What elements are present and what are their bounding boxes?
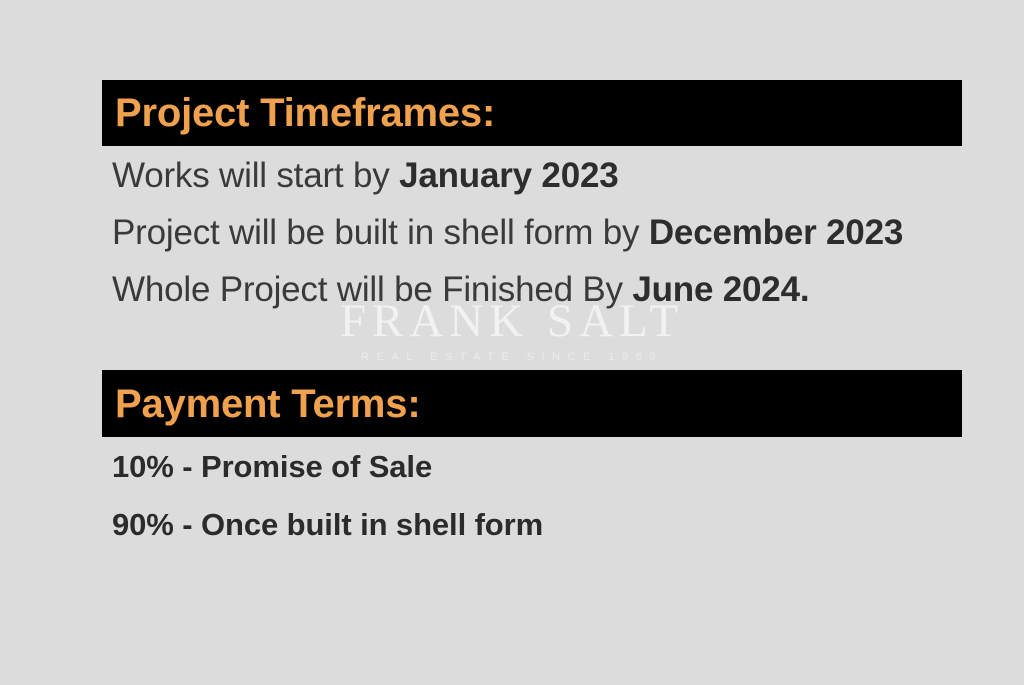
timeframe-row: Works will start by January 2023 <box>112 158 619 193</box>
payment-term-row: 90% - Once built in shell form <box>112 509 543 540</box>
section-title-timeframes: Project Timeframes: <box>102 93 495 133</box>
section-header-timeframes: Project Timeframes: <box>102 80 962 146</box>
timeframe-row: Project will be built in shell form by D… <box>112 215 903 250</box>
timeframe-label: Project will be built in shell form by <box>112 213 649 252</box>
payment-term-row: 10% - Promise of Sale <box>112 451 432 482</box>
timeframe-label: Works will start by <box>112 156 399 195</box>
timeframe-label: Whole Project will be Finished By <box>112 270 632 309</box>
timeframe-date: January 2023 <box>399 156 618 195</box>
watermark-tagline: REAL ESTATE SINCE 1969 <box>0 351 1024 363</box>
timeframe-date: December 2023 <box>649 213 903 252</box>
timeframe-row: Whole Project will be Finished By June 2… <box>112 272 809 307</box>
section-title-payment-terms: Payment Terms: <box>102 384 420 424</box>
slide-canvas: FRANK SALT REAL ESTATE SINCE 1969 Projec… <box>0 0 1024 685</box>
section-header-payment-terms: Payment Terms: <box>102 370 962 437</box>
timeframe-date: June 2024. <box>632 270 809 309</box>
